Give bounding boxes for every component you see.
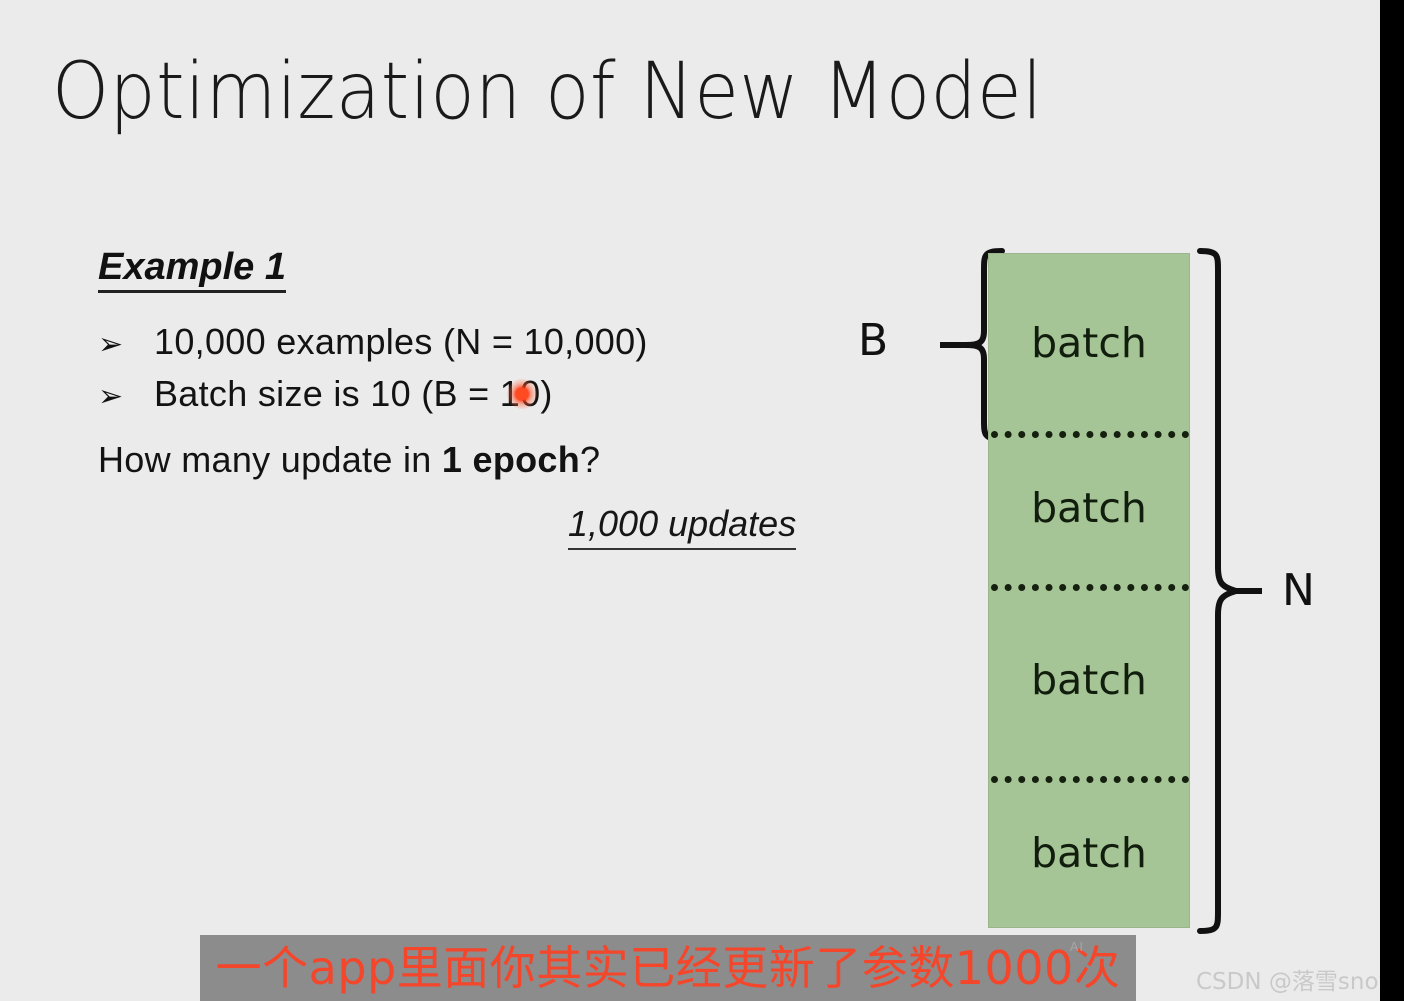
answer-value: 1,000 updates	[568, 503, 796, 550]
list-item-label: Batch size is 10 (B = 10)	[154, 373, 553, 415]
slide-canvas: Optimization of New Model Example 1 ➢ 10…	[0, 0, 1380, 1001]
brace-n-icon	[1192, 245, 1262, 937]
answer-line: 1,000 updates	[98, 503, 898, 550]
list-item: ➢ 10,000 examples (N = 10,000)	[98, 321, 898, 363]
brace-n-label: N	[1282, 565, 1315, 616]
subtitle-text: 一个app里面你其实已经更新了参数1000次	[200, 935, 1136, 1001]
question-prefix: How many update in	[98, 439, 442, 480]
batch-cell: batch	[989, 584, 1189, 776]
subtitle-bar: 一个app里面你其实已经更新了参数1000次 AI	[200, 935, 1136, 1001]
list-item: ➢ Batch size is 10 (B = 10)	[98, 373, 898, 415]
batch-cell-label: batch	[1031, 484, 1147, 532]
list-item-label: 10,000 examples (N = 10,000)	[154, 321, 648, 363]
bullet-list: ➢ 10,000 examples (N = 10,000) ➢ Batch s…	[98, 321, 898, 415]
batch-column: batch batch batch batch	[988, 253, 1190, 928]
ai-watermark-label: AI	[1070, 939, 1084, 954]
slide-screenshot: Optimization of New Model Example 1 ➢ 10…	[0, 0, 1404, 1001]
letterbox-right	[1380, 0, 1404, 1001]
page-title: Optimization of New Model	[52, 52, 1043, 134]
batch-cell: batch	[989, 254, 1189, 431]
example-heading: Example 1	[98, 248, 286, 293]
example-block: Example 1 ➢ 10,000 examples (N = 10,000)…	[98, 248, 898, 550]
csdn-watermark: CSDN @落雪snowflake	[1196, 962, 1380, 996]
brace-n-text: N	[1282, 565, 1315, 616]
batch-cell-label: batch	[1031, 829, 1147, 877]
question-emphasis: 1 epoch	[442, 439, 580, 480]
arrow-bullet-icon: ➢	[98, 382, 154, 412]
brace-b-label: B	[858, 315, 888, 366]
question-line: How many update in 1 epoch?	[98, 439, 898, 481]
arrow-bullet-icon: ➢	[98, 330, 154, 360]
brace-b-text: B	[858, 315, 888, 366]
batch-cell: batch	[989, 431, 1189, 584]
batch-cell: batch	[989, 776, 1189, 929]
batch-cell-label: batch	[1031, 656, 1147, 704]
batch-cell-label: batch	[1031, 319, 1147, 367]
batch-diagram: B N batch batch batch	[840, 240, 1360, 940]
question-suffix: ?	[580, 439, 600, 480]
